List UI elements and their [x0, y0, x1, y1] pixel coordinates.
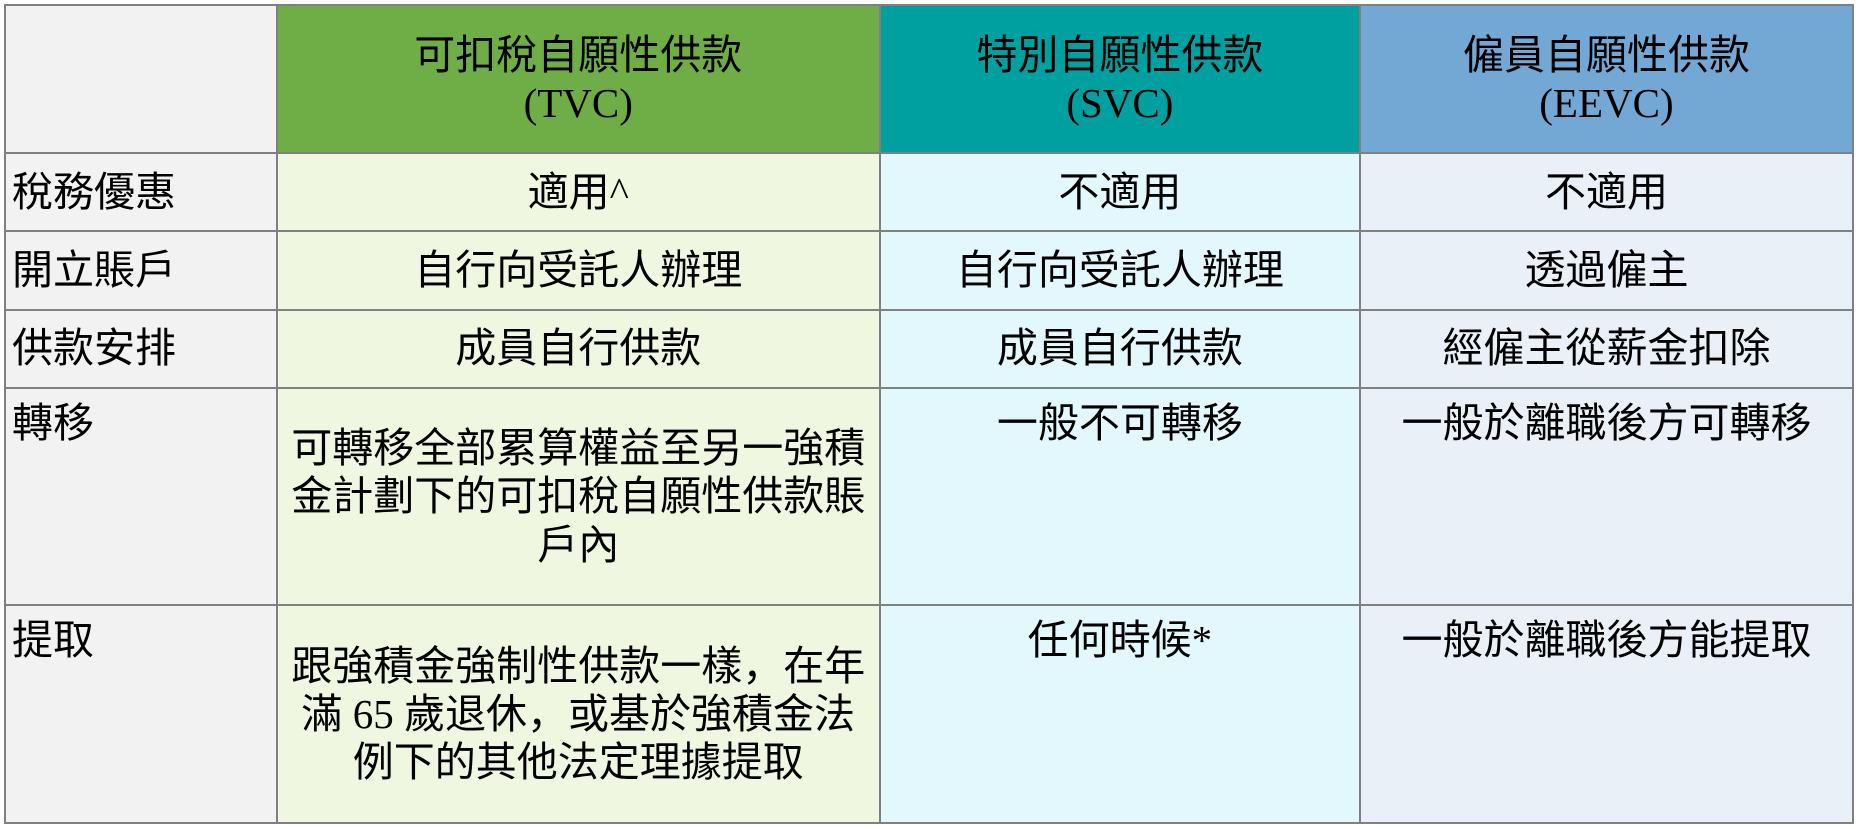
cell-open-account-svc: 自行向受託人辦理 [880, 231, 1360, 309]
cell-withdrawal-tvc: 跟強積金強制性供款一樣，在年滿 65 歲退休，或基於強積金法例下的其他法定理據提… [277, 605, 880, 823]
row-label-open-account: 開立賬戶 [5, 231, 277, 309]
table-row: 供款安排 成員自行供款 成員自行供款 經僱主從薪金扣除 [5, 310, 1853, 388]
table-row: 提取 跟強積金強制性供款一樣，在年滿 65 歲退休，或基於強積金法例下的其他法定… [5, 605, 1853, 823]
header-cell-blank [5, 5, 277, 153]
row-label-contribution-arrangement: 供款安排 [5, 310, 277, 388]
cell-tax-benefit-tvc: 適用^ [277, 153, 880, 231]
header-svc-title: 特別自願性供款 [887, 31, 1353, 79]
header-tvc-title: 可扣稅自願性供款 [284, 31, 873, 79]
cell-tax-benefit-svc: 不適用 [880, 153, 1360, 231]
header-svc-abbr: (SVC) [887, 79, 1353, 127]
header-eevc-title: 僱員自願性供款 [1367, 31, 1846, 79]
cell-withdrawal-eevc: 一般於離職後方能提取 [1360, 605, 1853, 823]
cell-tax-benefit-eevc: 不適用 [1360, 153, 1853, 231]
cell-open-account-tvc: 自行向受託人辦理 [277, 231, 880, 309]
cell-contribution-arrangement-tvc: 成員自行供款 [277, 310, 880, 388]
row-label-tax-benefit: 稅務優惠 [5, 153, 277, 231]
comparison-table-container: 可扣稅自願性供款 (TVC) 特別自願性供款 (SVC) 僱員自願性供款 (EE… [0, 0, 1862, 829]
row-label-withdrawal: 提取 [5, 605, 277, 823]
header-cell-tvc: 可扣稅自願性供款 (TVC) [277, 5, 880, 153]
cell-contribution-arrangement-svc: 成員自行供款 [880, 310, 1360, 388]
table-header-row: 可扣稅自願性供款 (TVC) 特別自願性供款 (SVC) 僱員自願性供款 (EE… [5, 5, 1853, 153]
table-row: 稅務優惠 適用^ 不適用 不適用 [5, 153, 1853, 231]
cell-withdrawal-svc: 任何時候* [880, 605, 1360, 823]
table-row: 轉移 可轉移全部累算權益至另一強積金計劃下的可扣稅自願性供款賬戶內 一般不可轉移… [5, 388, 1853, 606]
mpf-voluntary-contribution-comparison-table: 可扣稅自願性供款 (TVC) 特別自願性供款 (SVC) 僱員自願性供款 (EE… [4, 4, 1854, 824]
cell-transfer-tvc: 可轉移全部累算權益至另一強積金計劃下的可扣稅自願性供款賬戶內 [277, 388, 880, 606]
header-eevc-abbr: (EEVC) [1367, 79, 1846, 127]
header-tvc-abbr: (TVC) [284, 79, 873, 127]
cell-transfer-svc: 一般不可轉移 [880, 388, 1360, 606]
cell-contribution-arrangement-eevc: 經僱主從薪金扣除 [1360, 310, 1853, 388]
cell-transfer-eevc: 一般於離職後方可轉移 [1360, 388, 1853, 606]
header-cell-svc: 特別自願性供款 (SVC) [880, 5, 1360, 153]
cell-open-account-eevc: 透過僱主 [1360, 231, 1853, 309]
header-cell-eevc: 僱員自願性供款 (EEVC) [1360, 5, 1853, 153]
table-row: 開立賬戶 自行向受託人辦理 自行向受託人辦理 透過僱主 [5, 231, 1853, 309]
row-label-transfer: 轉移 [5, 388, 277, 606]
